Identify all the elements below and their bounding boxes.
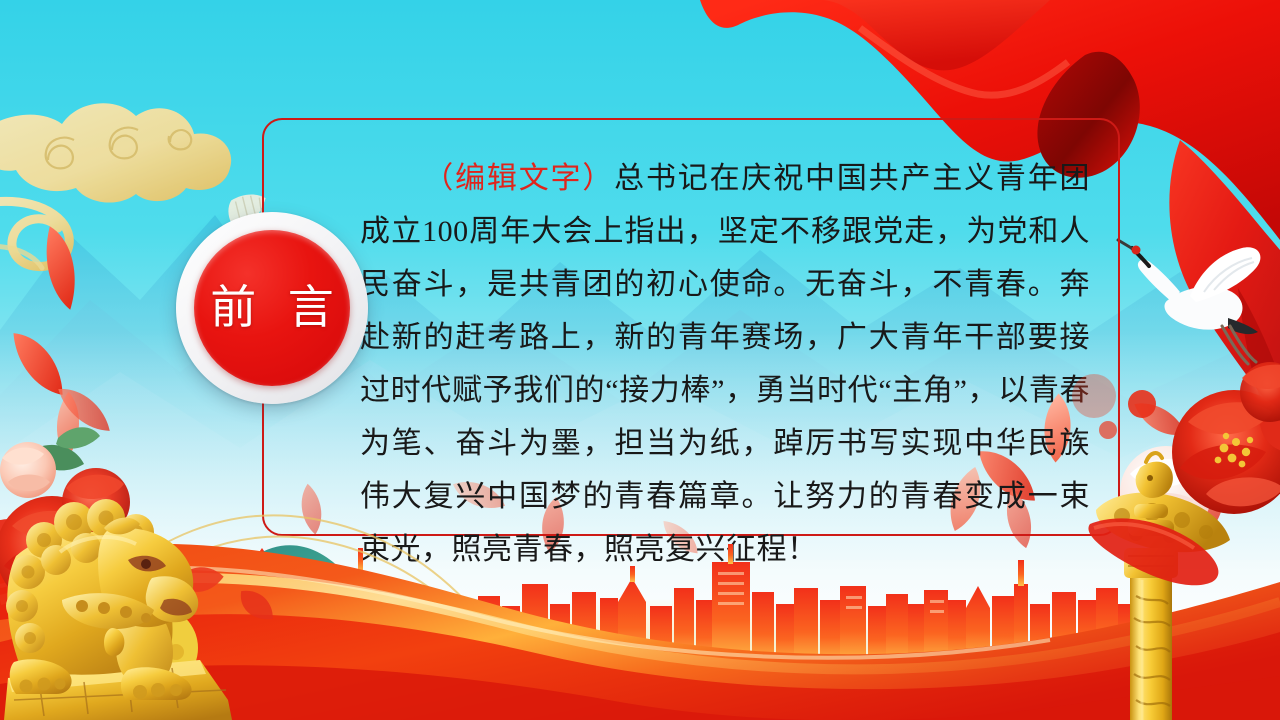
- huabiao-column: [0, 0, 1280, 720]
- slide-canvas: （编辑文字）总书记在庆祝中国共产主义青年团成立100周年大会上指出，坚定不移跟党…: [0, 0, 1280, 720]
